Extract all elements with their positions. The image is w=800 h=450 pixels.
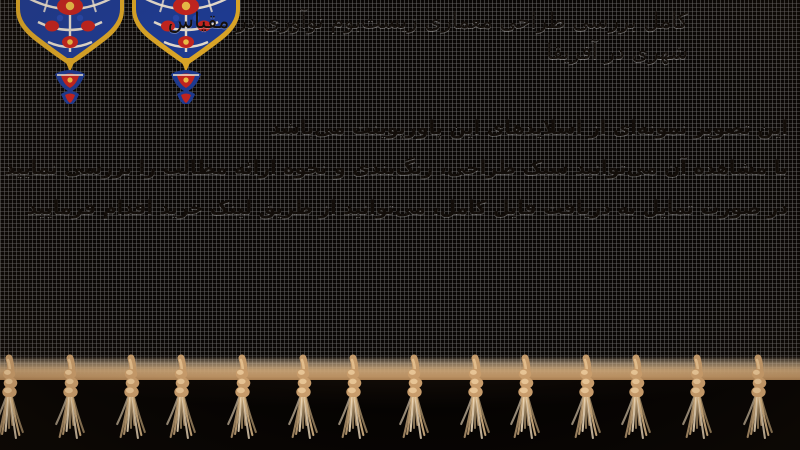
presentation-slide: کامل بررسی طراحی معماری زیست‌بوم نوآوری …	[0, 0, 800, 450]
body-line-1: این تصویر نمونه‌ای از اسلایدهای این پاور…	[6, 108, 788, 148]
slide-title-line-1: کامل بررسی طراحی معماری زیست‌بوم نوآوری …	[236, 9, 688, 34]
black-background-band	[0, 374, 800, 450]
body-line-2: با مشاهده آن می‌توانید سبک طراحی، رنگ‌بن…	[6, 148, 788, 188]
body-line-3: در صورت تمایل به دریافت فایل کامل، می‌تو…	[6, 188, 788, 228]
slide-body-text: این تصویر نمونه‌ای از اسلایدهای این پاور…	[6, 108, 788, 228]
slide-title: کامل بررسی طراحی معماری زیست‌بوم نوآوری …	[128, 6, 688, 68]
